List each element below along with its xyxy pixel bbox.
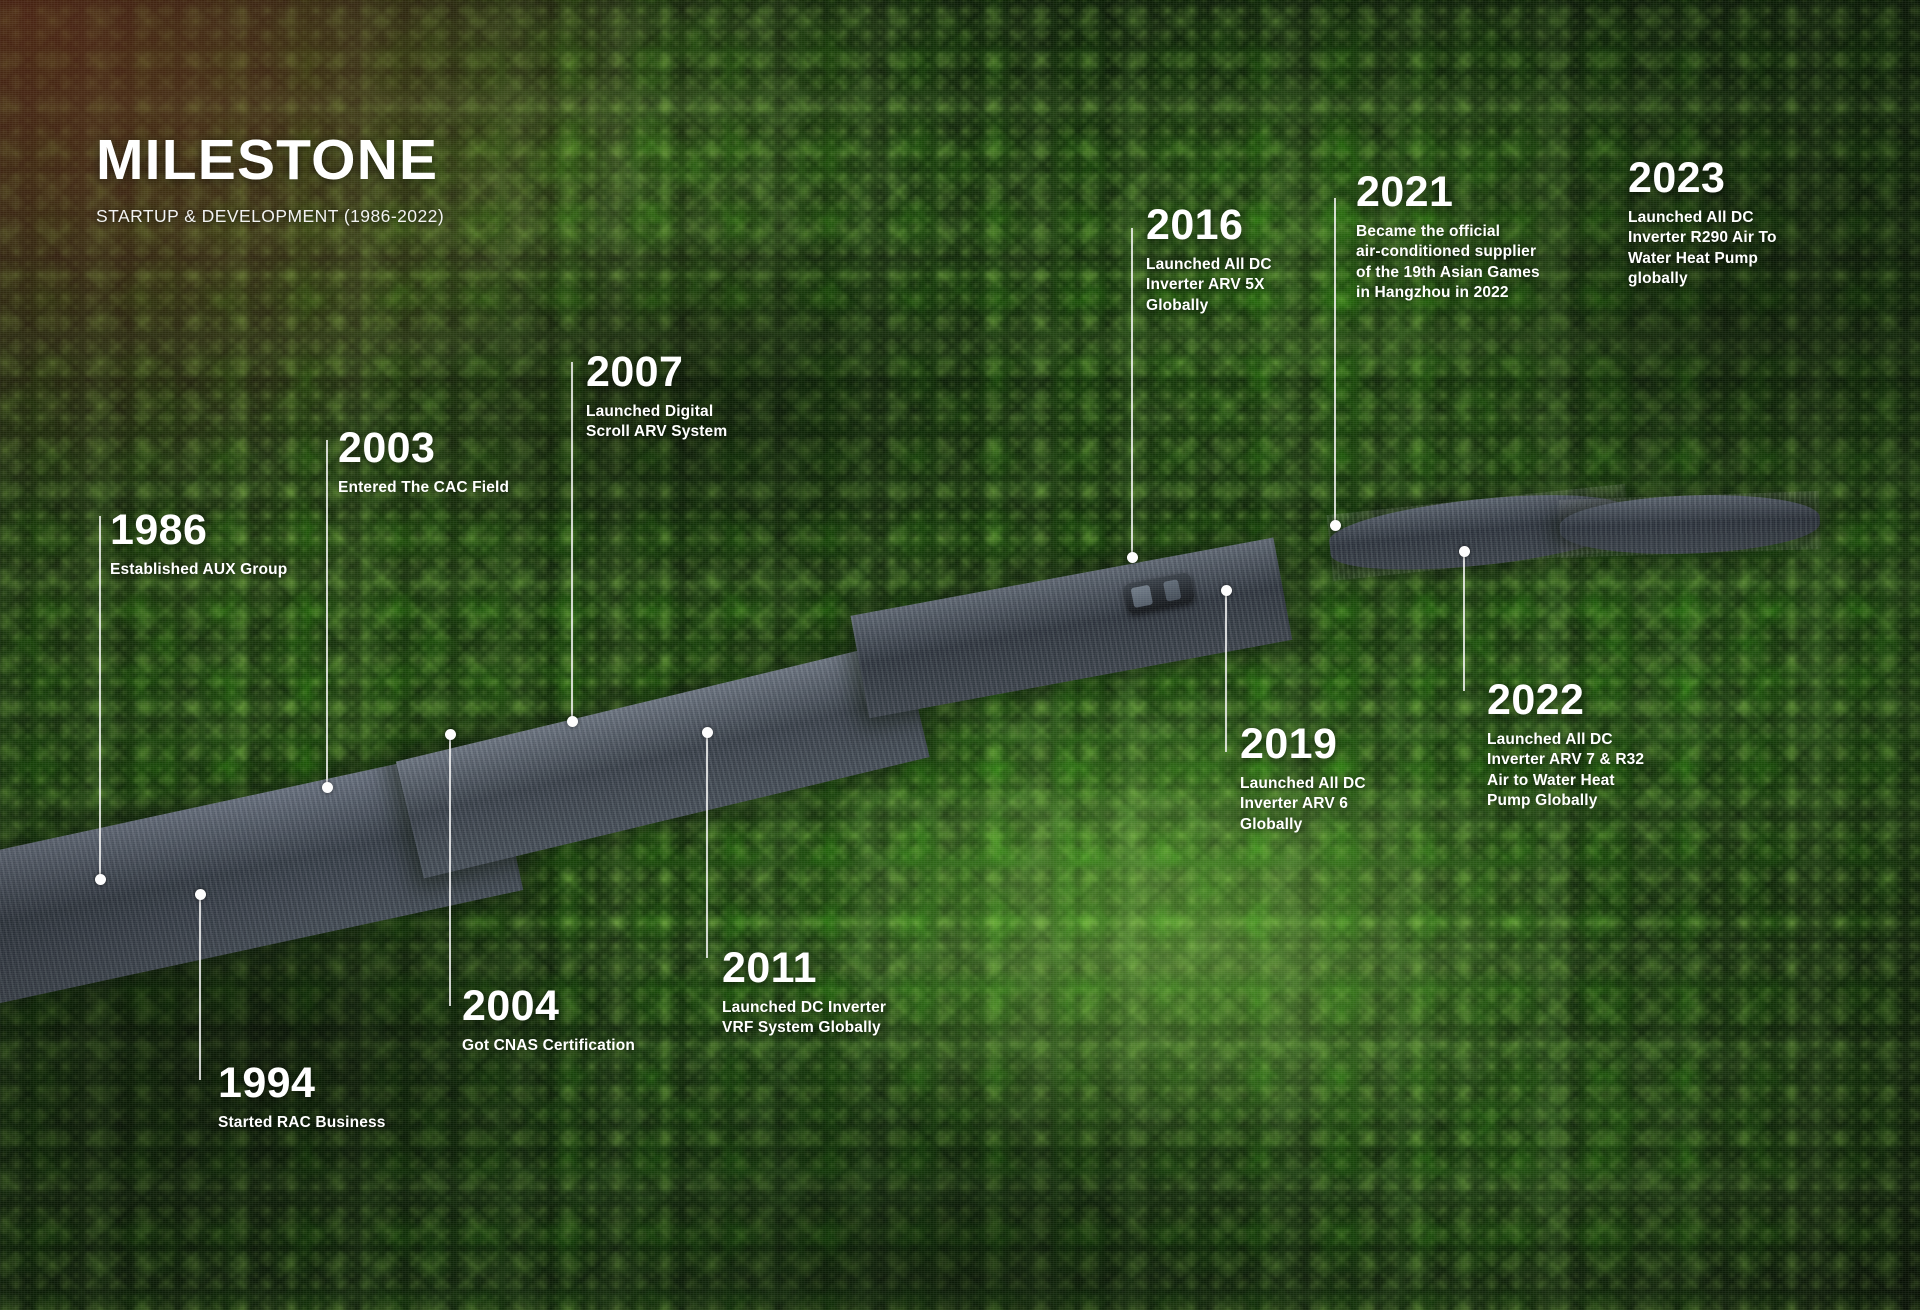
milestone-2011: 2011 Launched DC Inverter VRF System Glo…: [722, 948, 886, 1039]
milestone-infographic: MILESTONE STARTUP & DEVELOPMENT (1986-20…: [0, 0, 1920, 1310]
connector-line-2016: [1131, 228, 1133, 558]
milestone-2016: 2016 Launched All DC Inverter ARV 5X Glo…: [1146, 205, 1272, 316]
milestone-2004: 2004 Got CNAS Certification: [462, 986, 635, 1056]
road-segment-far-right: [1559, 491, 1821, 558]
milestone-desc: Launched DC Inverter VRF System Globally: [722, 998, 886, 1038]
connector-line-2019: [1225, 590, 1227, 752]
milestone-2021: 2021 Became the official air-conditioned…: [1356, 172, 1540, 303]
milestone-2022: 2022 Launched All DC Inverter ARV 7 & R3…: [1487, 680, 1644, 811]
milestone-desc: Launched All DC Inverter ARV 5X Globally: [1146, 255, 1272, 315]
milestone-desc: Launched Digital Scroll ARV System: [586, 402, 727, 442]
connector-line-2011: [706, 732, 708, 958]
header-block: MILESTONE STARTUP & DEVELOPMENT (1986-20…: [96, 132, 444, 227]
milestone-desc: Launched All DC Inverter ARV 6 Globally: [1240, 774, 1366, 834]
milestone-desc: Got CNAS Certification: [462, 1036, 635, 1056]
connector-line-2021: [1334, 198, 1336, 526]
milestone-1986: 1986 Established AUX Group: [110, 510, 287, 580]
milestone-desc: Started RAC Business: [218, 1113, 386, 1133]
milestone-desc: Became the official air-conditioned supp…: [1356, 222, 1540, 303]
connector-line-2004: [449, 734, 451, 1006]
connector-line-1986: [99, 516, 101, 880]
milestone-year: 2022: [1487, 680, 1644, 721]
milestone-2019: 2019 Launched All DC Inverter ARV 6 Glob…: [1240, 724, 1366, 835]
milestone-year: 2023: [1628, 158, 1777, 199]
milestone-year: 2016: [1146, 205, 1272, 246]
connector-line-2022: [1463, 551, 1465, 691]
milestone-2007: 2007 Launched Digital Scroll ARV System: [586, 352, 727, 443]
page-title: MILESTONE: [96, 132, 444, 189]
connector-line-2007: [571, 362, 573, 722]
milestone-desc: Launched All DC Inverter R290 Air To Wat…: [1628, 208, 1777, 289]
milestone-desc: Launched All DC Inverter ARV 7 & R32 Air…: [1487, 730, 1644, 811]
milestone-year: 1994: [218, 1063, 386, 1104]
milestone-1994: 1994 Started RAC Business: [218, 1063, 386, 1133]
milestone-2023: 2023 Launched All DC Inverter R290 Air T…: [1628, 158, 1777, 289]
milestone-year: 2007: [586, 352, 727, 393]
milestone-year: 2003: [338, 428, 509, 469]
milestone-desc: Entered The CAC Field: [338, 478, 509, 498]
connector-line-2003: [326, 440, 328, 788]
milestone-desc: Established AUX Group: [110, 560, 287, 580]
milestone-year: 2019: [1240, 724, 1366, 765]
page-subtitle: STARTUP & DEVELOPMENT (1986-2022): [96, 206, 444, 227]
connector-line-1994: [199, 894, 201, 1080]
milestone-year: 2011: [722, 948, 886, 989]
milestone-year: 1986: [110, 510, 287, 551]
milestone-2003: 2003 Entered The CAC Field: [338, 428, 509, 498]
milestone-year: 2021: [1356, 172, 1540, 213]
milestone-year: 2004: [462, 986, 635, 1027]
